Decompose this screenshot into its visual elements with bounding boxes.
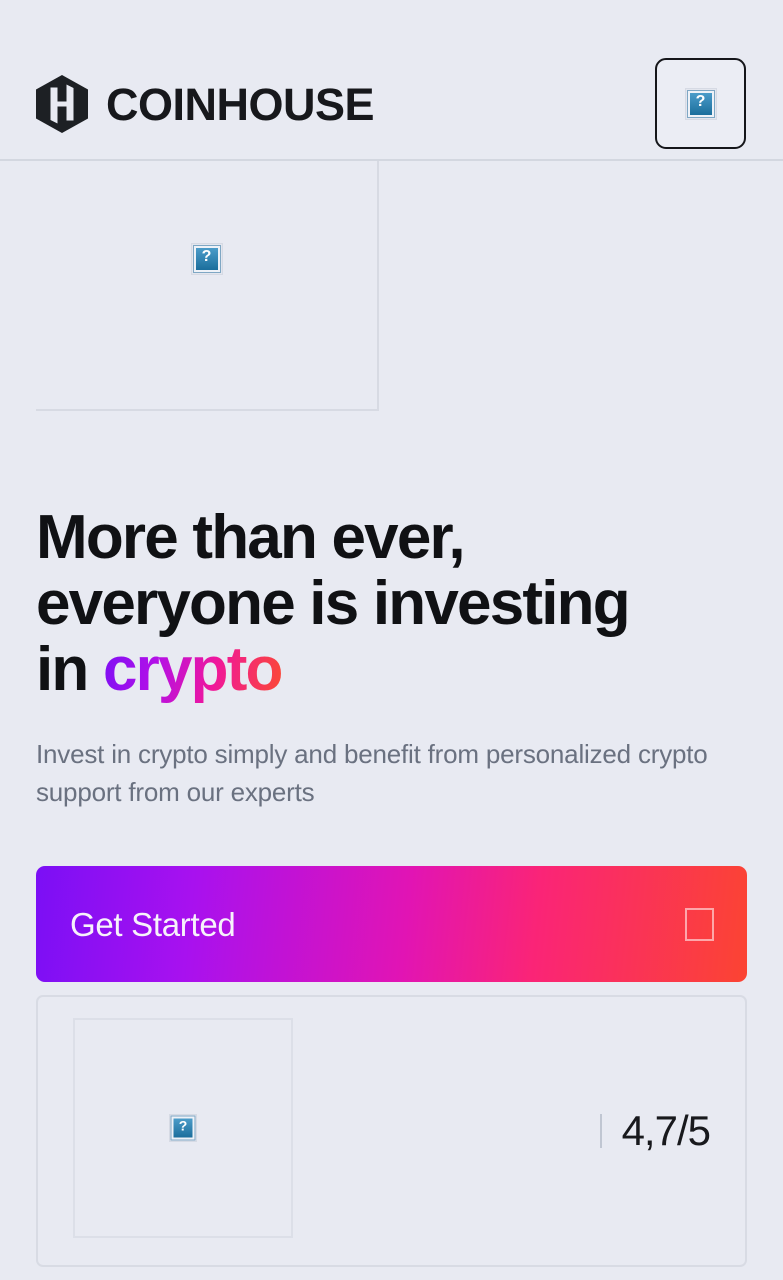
broken-image-placeholder-icon [678, 81, 724, 127]
hero-subtitle: Invest in crypto simply and benefit from… [36, 735, 747, 811]
hero-section: More than ever, everyone is investing in… [36, 505, 747, 811]
brand-logo-link[interactable]: COINHOUSE [36, 73, 374, 135]
page-root: COINHOUSE More than ever, everyone is in… [0, 0, 783, 1280]
hero-media-placeholder [36, 161, 379, 411]
hero-title-accent-word: crypto [103, 635, 282, 704]
header-menu-button[interactable] [655, 58, 746, 149]
broken-image-placeholder-icon [166, 1108, 200, 1148]
get-started-label: Get Started [70, 908, 235, 941]
site-header: COINHOUSE [0, 0, 783, 161]
page-title: More than ever, everyone is investing in… [36, 505, 747, 703]
rating-media-placeholder [73, 1018, 293, 1238]
hero-title-line-3-prefix: in [36, 635, 103, 704]
rating-value-group: 4,7/5 [600, 1110, 710, 1152]
brand-wordmark: COINHOUSE [106, 82, 374, 127]
missing-glyph-tofu-box-icon [685, 908, 714, 941]
rating-value: 4,7/5 [622, 1110, 710, 1152]
vertical-divider [600, 1114, 602, 1148]
hero-title-line-2: everyone is investing [36, 569, 629, 638]
rating-card[interactable]: 4,7/5 [36, 995, 747, 1267]
get-started-button[interactable]: Get Started [36, 866, 747, 982]
hero-title-line-1: More than ever, [36, 503, 464, 572]
coinhouse-hexagon-h-logo-icon [36, 75, 88, 133]
broken-image-placeholder-icon [187, 239, 227, 279]
